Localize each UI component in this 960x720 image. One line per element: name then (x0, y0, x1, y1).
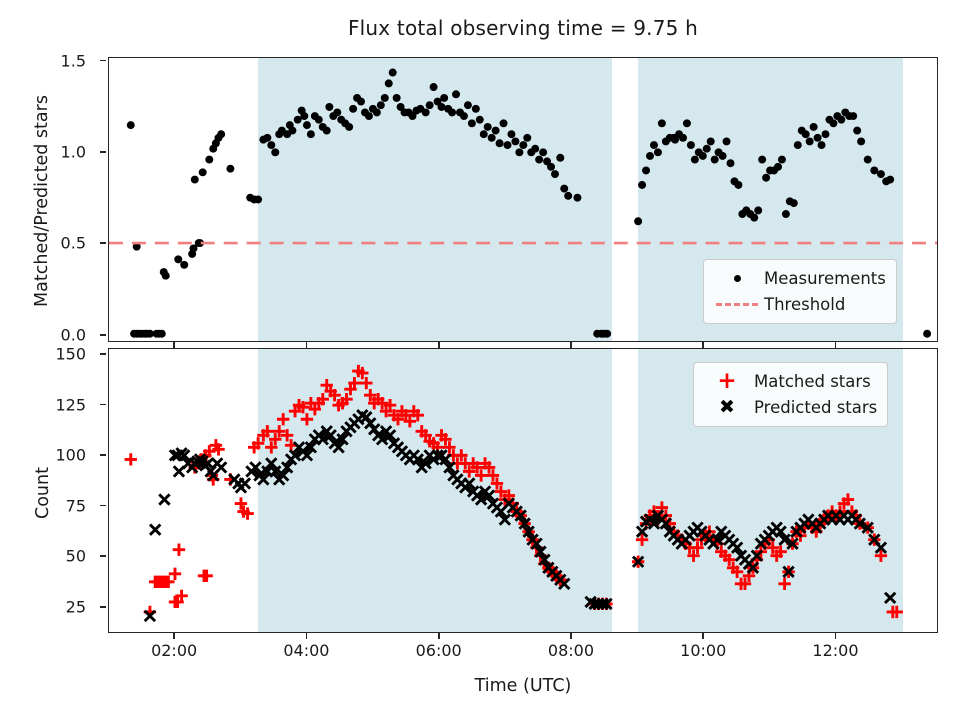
x-tick-mark (306, 342, 308, 348)
x-tick-mark (306, 633, 308, 639)
x-tick-mark (702, 633, 704, 639)
x-tick-label: 12:00 (812, 641, 858, 660)
y-tick-mark (100, 404, 106, 406)
legend-item-predicted-stars: ✖ Predicted stars (704, 394, 877, 420)
y-tick-label: 75 (66, 496, 86, 515)
x-tick-mark (438, 633, 440, 639)
y-tick-label: 125 (55, 395, 86, 414)
x-tick-mark (173, 633, 175, 639)
y-tick-label: 150 (55, 345, 86, 364)
y-tick-label: 0.5 (61, 234, 86, 253)
y-tick-label: 1.0 (61, 143, 86, 162)
x-tick-label: 02:00 (151, 641, 197, 660)
x-tick-label: 08:00 (548, 641, 594, 660)
legend-label-measurements: Measurements (760, 269, 886, 288)
x-tick-label: 04:00 (283, 641, 329, 660)
y-tick-label: 100 (55, 446, 86, 465)
y-tick-mark (100, 60, 106, 62)
y-axis-label-ratio: Matched/Predicted stars (32, 51, 52, 351)
x-tick-mark (570, 633, 572, 639)
legend-item-threshold: Threshold (714, 291, 886, 317)
legend-label-matched-stars: Matched stars (750, 372, 871, 391)
y-axis-label-counts: Count (33, 363, 53, 623)
x-tick-mark (173, 342, 175, 348)
x-tick-mark (835, 633, 837, 639)
y-tick-mark (100, 334, 106, 336)
x-tick-mark (702, 342, 704, 348)
y-tick-label: 1.5 (61, 51, 86, 70)
dashed-line-marker-icon (714, 296, 760, 313)
legend-label-threshold: Threshold (760, 295, 845, 314)
plus-marker-icon: + (704, 370, 750, 393)
x-tick-mark (835, 342, 837, 348)
legend-item-matched-stars: + Matched stars (704, 368, 877, 394)
y-tick-mark (100, 505, 106, 507)
point-marker-icon (714, 270, 760, 287)
y-tick-label: 0.0 (61, 325, 86, 344)
y-tick-mark (100, 151, 106, 153)
legend-item-measurements: Measurements (714, 265, 886, 291)
x-axis-label: Time (UTC) (108, 676, 938, 696)
legend-label-predicted-stars: Predicted stars (750, 398, 877, 417)
y-tick-mark (100, 454, 106, 456)
x-tick-mark (570, 342, 572, 348)
y-tick-mark (100, 606, 106, 608)
y-tick-mark (100, 353, 106, 355)
figure-title: Flux total observing time = 9.75 h (108, 16, 938, 40)
y-tick-label: 25 (66, 597, 86, 616)
x-marker-icon: ✖ (704, 398, 750, 417)
x-tick-label: 10:00 (680, 641, 726, 660)
legend-counts: + Matched stars ✖ Predicted stars (693, 362, 888, 427)
x-tick-label: 06:00 (416, 641, 462, 660)
legend-ratio: Measurements Threshold (703, 259, 897, 324)
y-tick-mark (100, 242, 106, 244)
figure: Flux total observing time = 9.75 h 0.00.… (0, 0, 960, 720)
y-tick-label: 50 (66, 547, 86, 566)
x-tick-mark (438, 342, 440, 348)
y-tick-mark (100, 555, 106, 557)
